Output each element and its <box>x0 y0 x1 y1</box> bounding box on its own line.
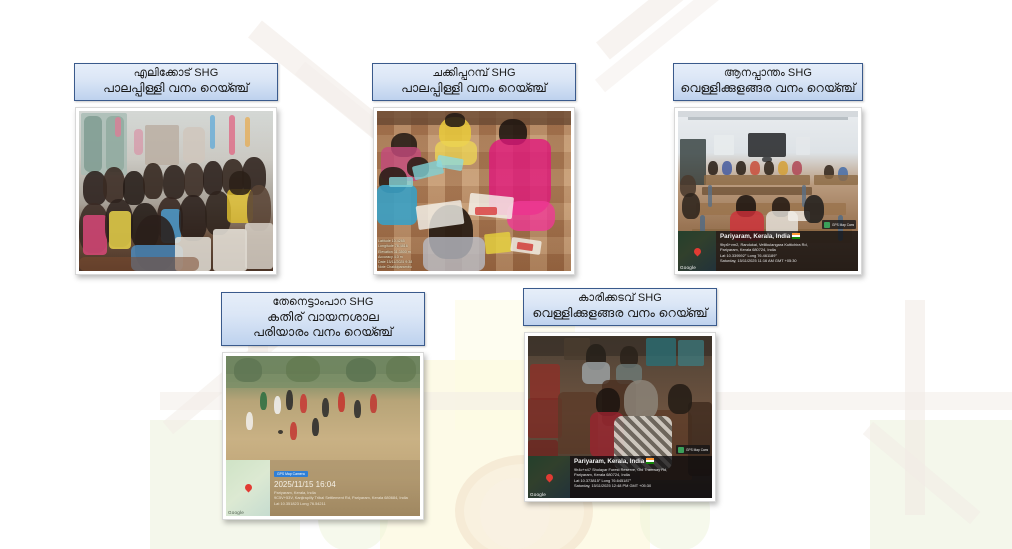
map-pin-icon <box>544 473 554 483</box>
photo-frame-elikkodu <box>75 107 277 275</box>
india-flag-icon <box>646 458 654 464</box>
caption-line-2: പാലപ്പിള്ളി വനം റെയ്ഞ്ച് <box>379 81 569 97</box>
photo-women-chart-paper: Latitude 10.4285 Longitude 76.4816 Eleva… <box>377 111 571 271</box>
photo-card-chakkipparambu: ചക്കിപ്പറമ്പ് SHG പാലപ്പിള്ളി വനം റെയ്ഞ്… <box>372 63 576 275</box>
caption-line-2: വെള്ളിക്കുളങ്ങര വനം റെയ്ഞ്ച് <box>530 306 710 322</box>
gps-coordinates: Lat 10.351823 Long 76.54211 <box>274 501 417 507</box>
map-pin-icon <box>243 482 253 492</box>
caption-line-1: ചക്കിപ്പറമ്പ് SHG <box>379 67 569 81</box>
photo-indoor-meeting-hall <box>79 111 273 271</box>
photo-card-thenettampara: തേനെട്ടാംപാറ SHG കതിര് വായനശാല പരിയാരം വ… <box>221 292 425 520</box>
gps-map-thumbnail: Google <box>528 456 570 498</box>
photo-frame-thenettampara: Google GPS Map Camera 2025/11/15 16:04 P… <box>222 352 424 520</box>
photo-frame-chakkipparambu: Latitude 10.4285 Longitude 76.4816 Eleva… <box>373 107 575 275</box>
gps-badge-label: GPS Map Camera <box>832 223 854 227</box>
gps-map-camera-chip: GPS Map Camera <box>274 471 308 477</box>
photo-classroom-hall: GPS Map Camera Google Pariyaram, Kerala,… <box>678 111 858 271</box>
photo-card-elikkodu: എലിക്കോട് SHG പാലപ്പിള്ളി വനം റെയ്ഞ്ച് <box>74 63 278 275</box>
watermark-column-right <box>905 300 925 515</box>
gps-map-camera-badge: GPS Map Camera <box>676 445 710 454</box>
caption-box-chakkipparambu: ചക്കിപ്പറമ്പ് SHG പാലപ്പിള്ളി വനം റെയ്ഞ്… <box>372 63 576 101</box>
gps-datetime: 2025/11/15 16:04 <box>274 480 417 490</box>
caption-box-aanappaantham: ആനപ്പാന്തം SHG വെള്ളിക്കുളങ്ങര വനം റെയ്ഞ… <box>673 63 863 101</box>
watermark-arm-right <box>863 422 981 524</box>
map-pin-icon <box>692 247 702 257</box>
watermark-foliage-right <box>870 420 1012 549</box>
photo-dim-indoor-room: GPS Map Camera Google Pariyaram, Kerala,… <box>528 336 712 498</box>
caption-line-1: എലിക്കോട് SHG <box>81 67 271 81</box>
photo-frame-aanappaantham: GPS Map Camera Google Pariyaram, Kerala,… <box>674 107 862 275</box>
photo-outdoor-ground: Google GPS Map Camera 2025/11/15 16:04 P… <box>226 356 420 516</box>
gps-timestamp: Saturday, 15/11/2025 12:48 PM GMT +05:30 <box>574 483 709 489</box>
caption-line-3: പരിയാരം വനം റെയ്ഞ്ച് <box>228 325 418 341</box>
gps-badge-label: GPS Map Camera <box>686 448 708 452</box>
caption-line-2: പാലപ്പിള്ളി വനം റെയ്ഞ്ച് <box>81 81 271 97</box>
caption-line-1: കാരിക്കടവ് SHG <box>530 292 710 306</box>
caption-box-thenettampara: തേനെട്ടാംപാറ SHG കതിര് വായനശാല പരിയാരം വ… <box>221 292 425 346</box>
gps-map-thumbnail: Google <box>678 231 716 271</box>
caption-line-2: വെള്ളിക്കുളങ്ങര വനം റെയ്ഞ്ച് <box>680 81 856 97</box>
watermark-roof-right <box>596 0 866 60</box>
photo-frame-karikkadavu: GPS Map Camera Google Pariyaram, Kerala,… <box>524 332 716 502</box>
gps-badge-icon <box>824 222 830 228</box>
google-logo: Google <box>228 510 244 515</box>
gps-location-title: Pariyaram, Kerala, India <box>574 458 709 466</box>
gps-timestamp: Saturday, 15/11/2025 11:16 AM GMT +05:30 <box>720 258 855 264</box>
gps-overlay-small: Latitude 10.4285 Longitude 76.4816 Eleva… <box>378 239 422 270</box>
caption-box-elikkodu: എലിക്കോട് SHG പാലപ്പിള്ളി വനം റെയ്ഞ്ച് <box>74 63 278 101</box>
google-logo: Google <box>530 492 546 497</box>
gps-map-thumbnail: Google <box>226 460 270 516</box>
gps-text-block: Pariyaram, Kerala, India 9h4c+x47 Sholay… <box>570 456 712 498</box>
presentation-slide: എലിക്കോട് SHG പാലപ്പിള്ളി വനം റെയ്ഞ്ച് <box>0 0 1012 549</box>
gps-place-name: Pariyaram, Kerala, India <box>720 233 790 240</box>
gps-text-block: GPS Map Camera 2025/11/15 16:04 Pariyara… <box>270 460 420 516</box>
gps-note: Note Chakkiparambu <box>378 265 422 270</box>
gps-map-camera-badge: GPS Map Camera <box>822 220 856 229</box>
gps-text-block: Pariyaram, Kerala, India 9hp6+vm2, Randu… <box>716 231 858 271</box>
gps-overlay-karikkadavu: Google Pariyaram, Kerala, India 9h4c+x47… <box>528 456 712 498</box>
photo-card-karikkadavu: കാരിക്കടവ് SHG വെള്ളിക്കുളങ്ങര വനം റെയ്ഞ… <box>523 288 717 502</box>
gps-overlay-aanappaantham: Google Pariyaram, Kerala, India 9hp6+vm2… <box>678 231 858 271</box>
caption-line-2: കതിര് വായനശാല <box>228 310 418 326</box>
caption-line-1: തേനെട്ടാംപാറ SHG <box>228 296 418 310</box>
google-logo: Google <box>680 265 696 270</box>
photo-card-aanappaantham: ആനപ്പാന്തം SHG വെള്ളിക്കുളങ്ങര വനം റെയ്ഞ… <box>673 63 863 275</box>
gps-overlay-thenettampara: Google GPS Map Camera 2025/11/15 16:04 P… <box>226 460 420 516</box>
gps-badge-icon <box>678 447 684 453</box>
caption-line-1: ആനപ്പാന്തം SHG <box>680 67 856 81</box>
gps-location-title: Pariyaram, Kerala, India <box>720 233 855 241</box>
india-flag-icon <box>792 233 800 239</box>
gps-place-name: Pariyaram, Kerala, India <box>574 458 644 465</box>
caption-box-karikkadavu: കാരിക്കടവ് SHG വെള്ളിക്കുളങ്ങര വനം റെയ്ഞ… <box>523 288 717 326</box>
